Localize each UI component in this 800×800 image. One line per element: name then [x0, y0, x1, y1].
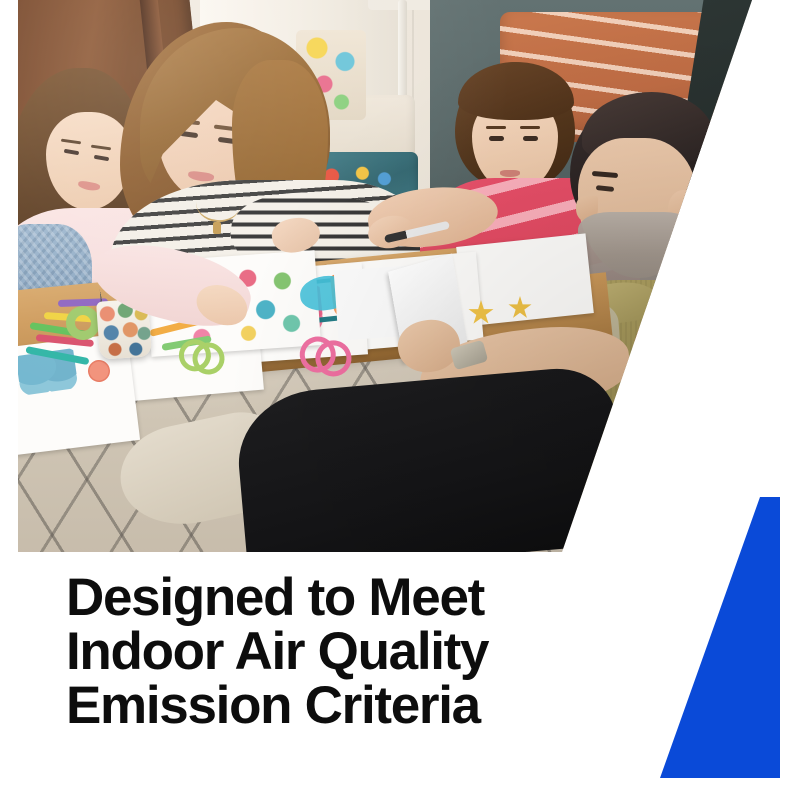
photo-scene [0, 0, 800, 556]
boy-eye-right [523, 136, 538, 141]
boy-eyebrow-left [486, 126, 506, 129]
headline-line-1: Designed to Meet [66, 571, 626, 625]
boy-eyebrow-right [520, 126, 540, 129]
boy-eye-left [489, 136, 504, 141]
blue-accent-shape [650, 490, 790, 786]
headline-line-3: Emission Criteria [66, 679, 626, 733]
boy-lips [500, 170, 520, 177]
headline-line-2: Indoor Air Quality [66, 625, 626, 679]
promo-card: Designed to Meet Indoor Air Quality Emis… [0, 0, 800, 800]
mother-necklace-pendant [213, 222, 221, 234]
page-title: Designed to Meet Indoor Air Quality Emis… [66, 571, 626, 733]
blue-accent-polygon [660, 497, 780, 778]
hero-photo [0, 0, 800, 556]
